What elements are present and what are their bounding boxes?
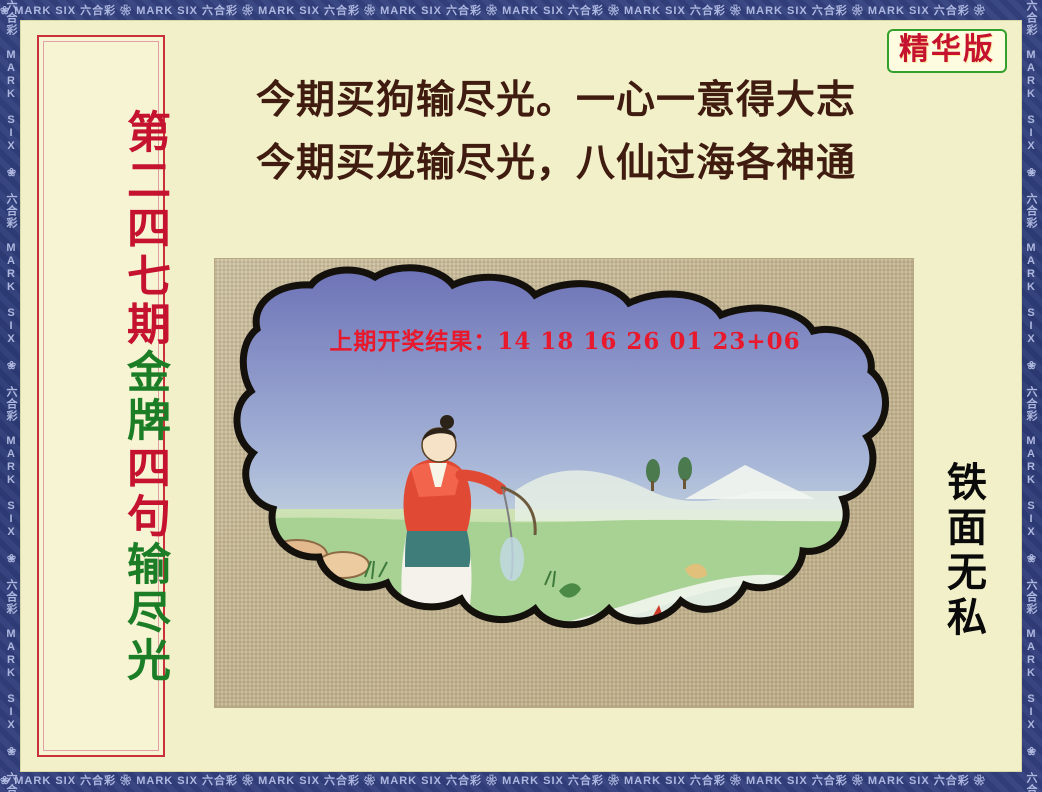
vertical-title-box: 第二四七期金牌四句输尽光 [37, 35, 165, 757]
border-text-top: ❀ MARK SIX 六合彩 ❀ MARK SIX 六合彩 ❀ MARK SIX… [0, 3, 1042, 19]
poster-root: ❀ MARK SIX 六合彩 ❀ MARK SIX 六合彩 ❀ MARK SIX… [0, 0, 1042, 792]
couplet-block: 今期买狗输尽光。一心一意得大志 今期买龙输尽光，八仙过海各神通 [196, 69, 916, 195]
border-text-right: 六合彩 MARK SIX ❀ 六合彩 MARK SIX ❀ 六合彩 MARK S… [1023, 0, 1039, 792]
vertical-title-text: 第二四七期金牌四句输尽光 [39, 47, 167, 747]
vertical-title-part2: 金牌 [119, 349, 170, 445]
vertical-title-part3: 四句 [119, 445, 170, 541]
couplet-line-2: 今期买龙输尽光，八仙过海各神通 [196, 132, 916, 195]
vertical-title-part1: 第二四七期 [119, 109, 170, 349]
edition-badge: 精华版 [887, 29, 1007, 73]
lottery-result-text: 上期开奖结果：14 18 16 26 01 23+06 [215, 322, 914, 356]
illustration: 上期开奖结果：14 18 16 26 01 23+06 [214, 258, 914, 708]
couplet-line-1: 今期买狗输尽光。一心一意得大志 [196, 69, 916, 132]
border-text-bottom: ❀ MARK SIX 六合彩 ❀ MARK SIX 六合彩 ❀ MARK SIX… [0, 773, 1042, 789]
border-text-left: 六合彩 MARK SIX ❀ 六合彩 MARK SIX ❀ 六合彩 MARK S… [3, 0, 19, 792]
vertical-title-part4: 输尽光 [119, 541, 170, 685]
right-slogan-text: 铁面无私 [921, 461, 987, 641]
content-panel: 第二四七期金牌四句输尽光 精华版 今期买狗输尽光。一心一意得大志 今期买龙输尽光… [20, 20, 1022, 772]
